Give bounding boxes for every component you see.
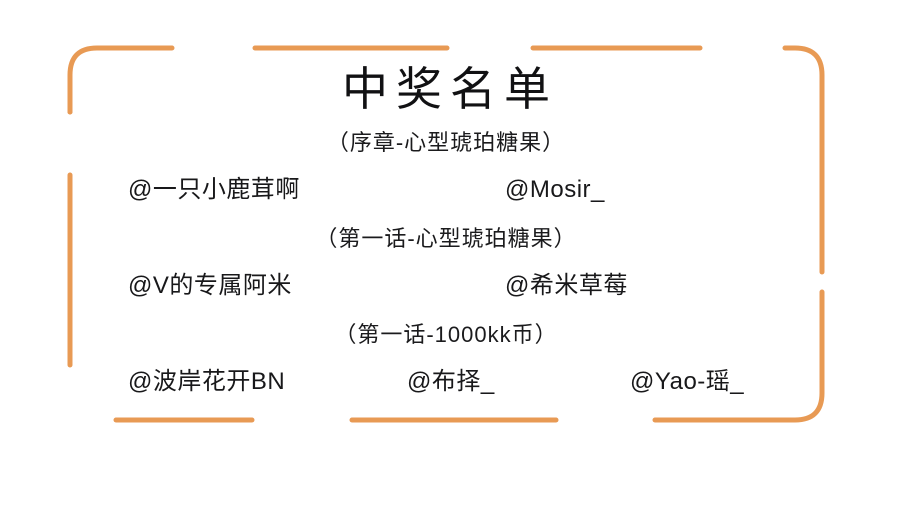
poster-content: 中奖名单 （序章-心型琥珀糖果） @一只小鹿茸啊 @Mosir_ （第一话-心型… [70,45,822,420]
winner-row: @波岸花开BN @布择_ @Yao-瑶_ [70,365,822,399]
winner-name: @Yao-瑶_ [630,365,744,399]
section-label-episode1-candy: （第一话-心型琥珀糖果） [70,225,822,253]
winner-row: @一只小鹿茸啊 @Mosir_ [70,173,822,207]
winner-name: @布择_ [407,365,495,399]
page-title: 中奖名单 [70,62,822,116]
winners-poster: 中奖名单 （序章-心型琥珀糖果） @一只小鹿茸啊 @Mosir_ （第一话-心型… [0,0,900,506]
winner-name: @希米草莓 [505,269,628,303]
winner-name: @Mosir_ [505,173,605,207]
winner-name: @V的专属阿米 [128,269,292,303]
section-label-prologue: （序章-心型琥珀糖果） [70,129,822,157]
winner-row: @V的专属阿米 @希米草莓 [70,269,822,303]
section-label-episode1-coins: （第一话-1000kk币） [70,321,822,349]
winner-name: @一只小鹿茸啊 [128,173,300,207]
winner-name: @波岸花开BN [128,365,285,399]
